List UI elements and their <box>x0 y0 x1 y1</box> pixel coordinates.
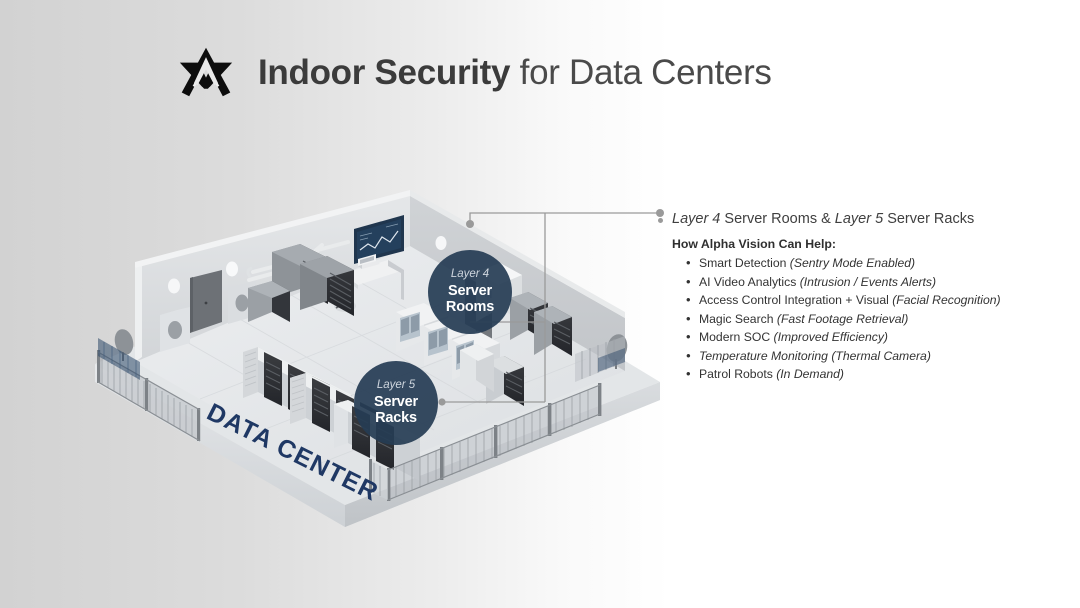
capability-detail: (Thermal Camera) <box>831 349 931 363</box>
capability-name: Access Control Integration + Visual <box>699 293 892 307</box>
capability-list-item: AI Video Analytics (Intrusion / Events A… <box>686 273 1058 292</box>
capability-name: Temperature Monitoring <box>699 349 831 363</box>
capability-name: AI Video Analytics <box>699 275 800 289</box>
callout-info-panel: Layer 4 Server Rooms & Layer 5 Server Ra… <box>658 210 1058 384</box>
capability-name: Modern SOC <box>699 330 774 344</box>
capability-list-item: Magic Search (Fast Footage Retrieval) <box>686 310 1058 329</box>
capability-list-item: Modern SOC (Improved Efficiency) <box>686 328 1058 347</box>
help-section-title: How Alpha Vision Can Help: <box>672 237 1058 251</box>
square-and-compass-icon <box>176 44 236 100</box>
badge-layer-label: Layer 4 <box>451 269 489 281</box>
layers-heading: Layer 4 Server Rooms & Layer 5 Server Ra… <box>672 210 974 228</box>
capability-name: Smart Detection <box>699 256 790 270</box>
capability-name: Magic Search <box>699 312 777 326</box>
badge-name-line-2: Racks <box>375 411 417 427</box>
layer-a-label: Layer 4 <box>672 211 720 227</box>
layers-text-b: Server Racks <box>883 211 974 227</box>
capability-list-item: Access Control Integration + Visual (Fac… <box>686 291 1058 310</box>
badge-name-line-1: Server <box>374 395 418 411</box>
layers-text-a: Server Rooms & <box>720 211 834 227</box>
page-header: Indoor Security for Data Centers <box>176 44 772 100</box>
layer-b-label: Layer 5 <box>835 211 883 227</box>
layers-heading-row: Layer 4 Server Rooms & Layer 5 Server Ra… <box>658 210 1058 228</box>
badge-layer-5-server-racks[interactable]: Layer 5 Server Racks <box>354 361 438 445</box>
capability-detail: (Intrusion / Events Alerts) <box>800 275 936 289</box>
page-title: Indoor Security for Data Centers <box>258 55 772 90</box>
capability-list-item: Smart Detection (Sentry Mode Enabled) <box>686 254 1058 273</box>
capability-list-item: Patrol Robots (In Demand) <box>686 365 1058 384</box>
capability-list-item: Temperature Monitoring (Thermal Camera) <box>686 347 1058 366</box>
capability-detail: (Sentry Mode Enabled) <box>790 256 915 270</box>
badge-layer-label: Layer 5 <box>377 380 415 392</box>
badge-name-line-1: Server <box>448 284 492 300</box>
capability-list: Smart Detection (Sentry Mode Enabled)AI … <box>686 254 1058 384</box>
badge-layer-4-server-rooms[interactable]: Layer 4 Server Rooms <box>428 250 512 334</box>
capability-detail: (Improved Efficiency) <box>774 330 888 344</box>
badge-name-line-2: Rooms <box>446 300 494 316</box>
capability-detail: (Fast Footage Retrieval) <box>777 312 908 326</box>
capability-name: Patrol Robots <box>699 367 776 381</box>
bullet-dot-icon <box>658 218 663 223</box>
page-title-regular: for Data Centers <box>510 53 771 92</box>
page-title-bold: Indoor Security <box>258 53 510 92</box>
capability-detail: (In Demand) <box>776 367 844 381</box>
capability-detail: (Facial Recognition) <box>892 293 1000 307</box>
